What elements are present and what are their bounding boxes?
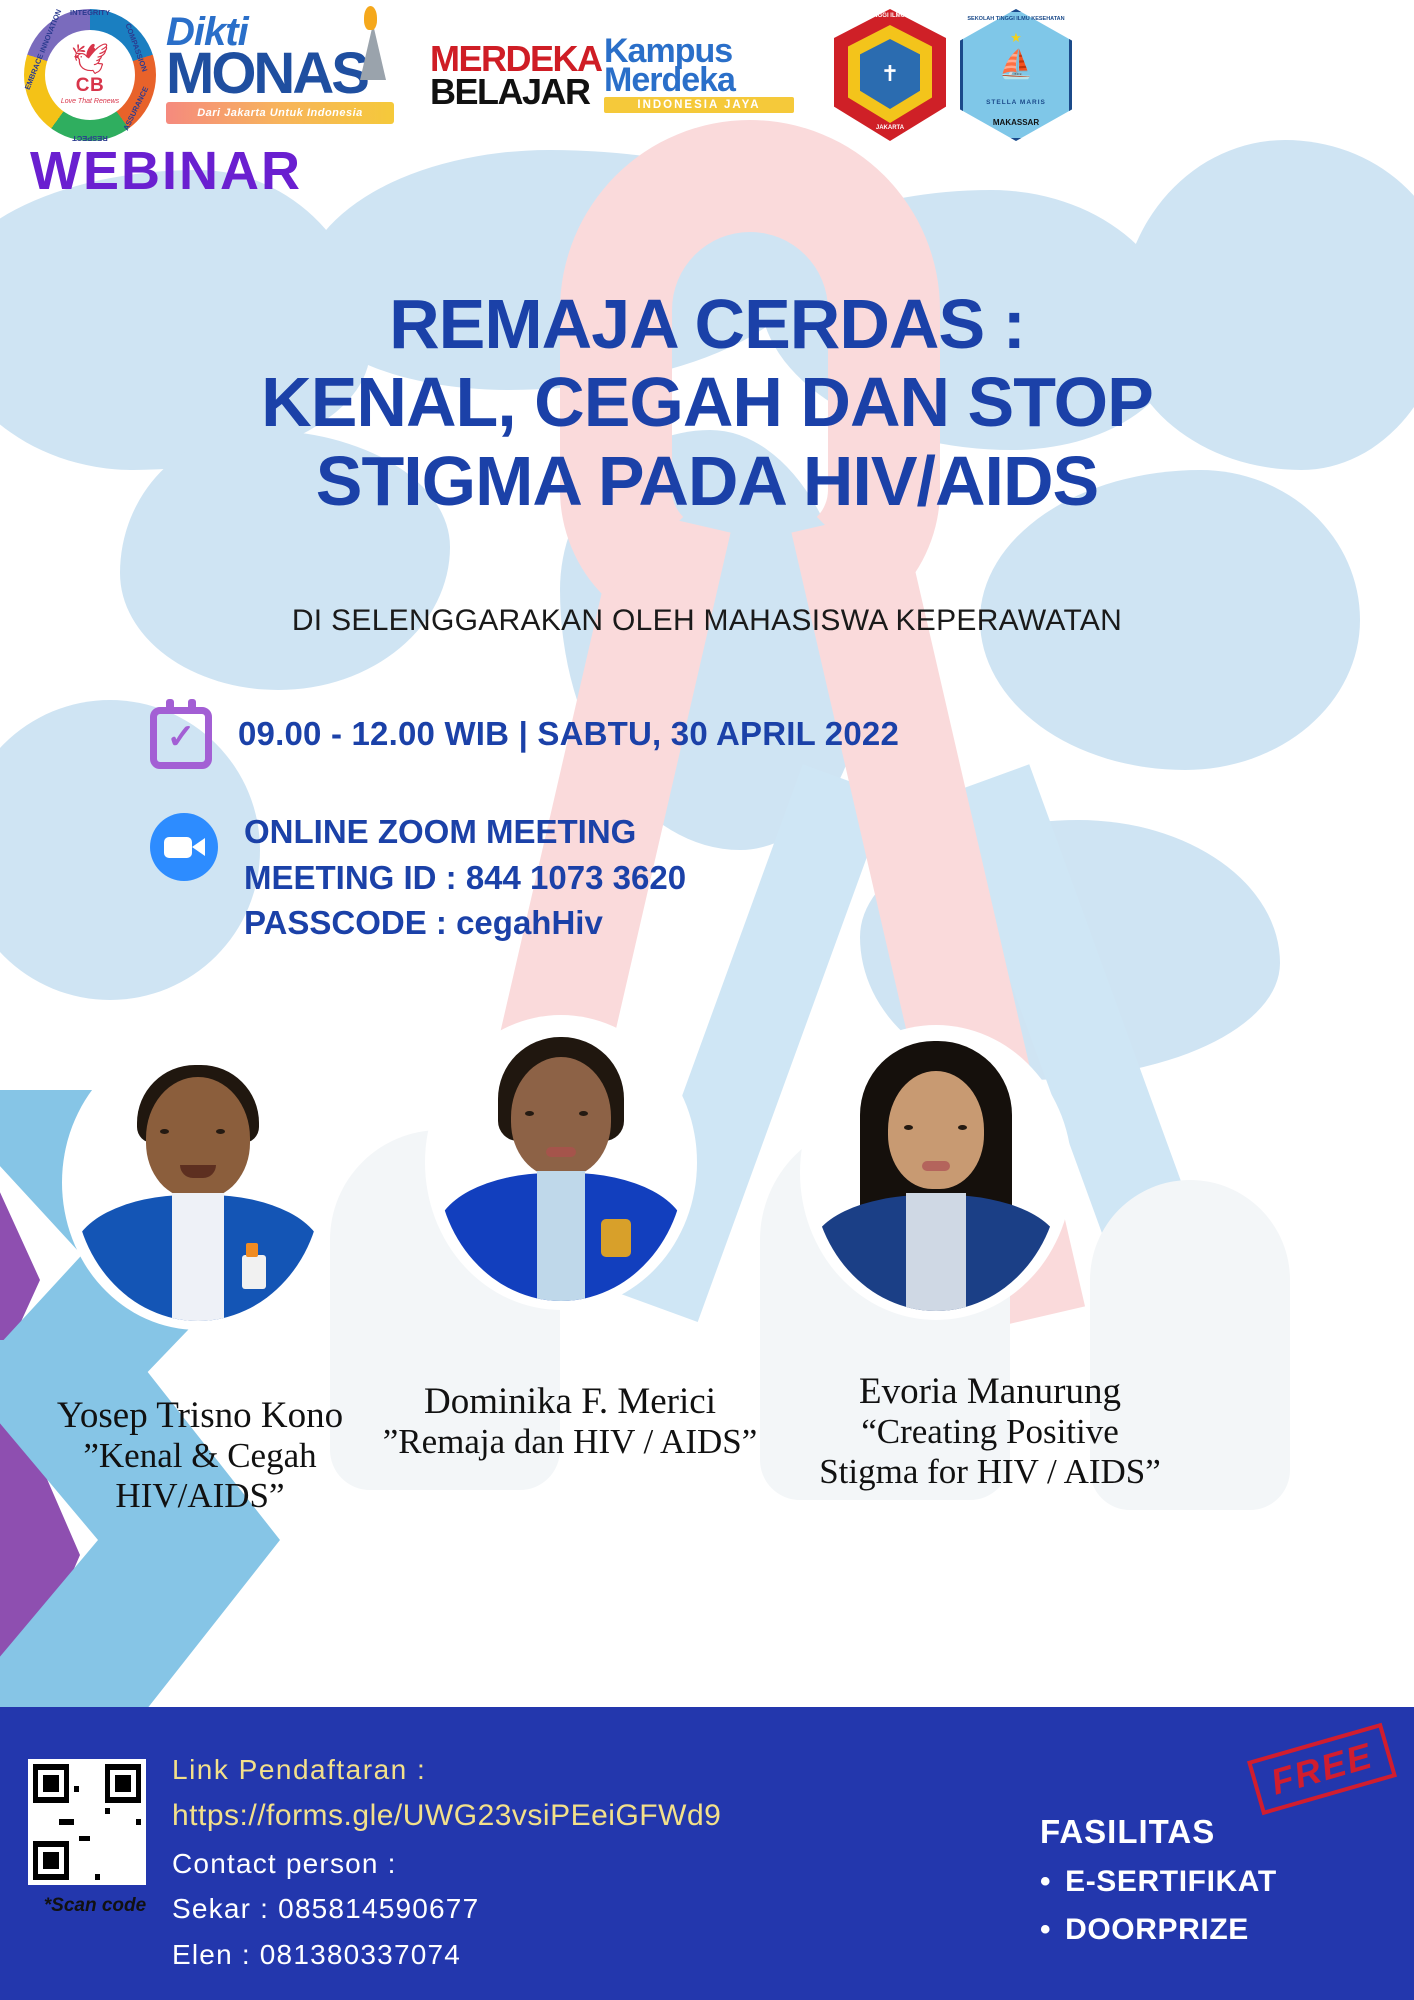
event-time: 09.00 - 12.00 WIB | SABTU, 30 APRIL 2022 — [238, 705, 899, 753]
calendar-check-icon: ✓ — [150, 707, 212, 769]
stik-crest-top-text: SEKOLAH TINGGI ILMU KESEHATAN — [834, 13, 946, 19]
merdeka-line2: BELAJAR — [430, 75, 580, 108]
ship-icon: ⛵ — [999, 48, 1034, 81]
stella-crest-bottom-text: MAKASSAR — [960, 118, 1072, 127]
cb-word-respect: RESPECT — [72, 134, 107, 143]
facility-item: DOORPRIZE — [1040, 1913, 1277, 1947]
dikti-logo-mid: MONAS — [166, 50, 394, 98]
speaker-3-topic-line1: “Creating Positive — [740, 1412, 1240, 1452]
facilities-title: FASILITAS — [1040, 1813, 1277, 1851]
speaker-1: Yosep Trisno Kono ”Kenal & Cegah HIV/AID… — [0, 1395, 400, 1516]
purple-chevron-shape — [0, 1130, 40, 1430]
stik-crest-bottom-text: JAKARTA — [834, 125, 946, 131]
event-details: ✓ 09.00 - 12.00 WIB | SABTU, 30 APRIL 20… — [150, 705, 899, 986]
star-icon: ★ — [1010, 30, 1022, 46]
speaker-3-topic-line2: Stigma for HIV / AIDS” — [740, 1452, 1240, 1492]
avatar — [437, 1023, 685, 1301]
registration-info: Link Pendaftaran : https://forms.gle/UWG… — [172, 1747, 721, 1977]
zoom-meeting-id: MEETING ID : 844 1073 3620 — [244, 855, 686, 901]
speaker-1-name: Yosep Trisno Kono — [0, 1395, 400, 1436]
scan-code-label: *Scan code — [40, 1895, 150, 1917]
stik-sint-carolus-logo: ✝ SEKOLAH TINGGI ILMU KESEHATAN JAKARTA — [834, 9, 946, 141]
cb-word-integrity: INTEGRITY — [70, 8, 110, 17]
registration-link-url[interactable]: https://forms.gle/UWG23vsiPEeiGFWd9 — [172, 1792, 721, 1841]
kampus-merdeka-logo: Kampus Merdeka INDONESIA JAYA — [604, 37, 794, 114]
speaker-2: Dominika F. Merici ”Remaja dan HIV / AID… — [380, 1381, 760, 1462]
title-line-2: KENAL, CEGAH DAN STOP — [0, 363, 1414, 441]
registration-link-label: Link Pendaftaran : — [172, 1747, 721, 1792]
dikti-monas-logo: Dikti MONAS Dari Jakarta Untuk Indonesia — [166, 15, 394, 135]
facility-item: E-SERTIFIKAT — [1040, 1865, 1277, 1899]
page-subtitle: DI SELENGGARAKAN OLEH MAHASISWA KEPERAWA… — [0, 604, 1414, 638]
footer-bar: *Scan code Link Pendaftaran : https://fo… — [0, 1707, 1414, 2000]
title-line-3: STIGMA PADA HIV/AIDS — [0, 442, 1414, 520]
contact-person-label: Contact person : — [172, 1841, 721, 1886]
monas-tower-icon — [360, 24, 386, 80]
free-stamp-badge: FREE — [1247, 1723, 1397, 1815]
contact-person-1: Sekar : 085814590677 — [172, 1886, 721, 1931]
speaker-2-topic: ”Remaja dan HIV / AIDS” — [380, 1422, 760, 1462]
avatar — [74, 1043, 322, 1321]
contact-person-2: Elen : 081380337074 — [172, 1932, 721, 1977]
stella-maris-logo: ★ ⛵ SEKOLAH TINGGI ILMU KESEHATAN STELLA… — [960, 9, 1072, 141]
cb-logo: 🕊 CB Love That Renews INTEGRITY COMPASSI… — [24, 9, 156, 141]
speaker-2-name: Dominika F. Merici — [380, 1381, 760, 1422]
kampus-ribbon: INDONESIA JAYA — [604, 97, 794, 113]
speaker-3: Evoria Manurung “Creating Positive Stigm… — [740, 1371, 1240, 1492]
cb-logo-text: CB — [76, 75, 104, 97]
zoom-passcode: PASSCODE : cegahHiv — [244, 900, 686, 946]
cb-logo-motto: Love That Renews — [61, 98, 119, 105]
kampus-line2: Merdeka — [604, 66, 794, 95]
speaker-1-topic: ”Kenal & Cegah HIV/AIDS” — [0, 1436, 400, 1516]
speaker-3-name: Evoria Manurung — [740, 1371, 1240, 1412]
facilities-list: E-SERTIFIKAT DOORPRIZE — [1040, 1865, 1277, 1947]
event-platform-row: ONLINE ZOOM MEETING MEETING ID : 844 107… — [150, 809, 899, 946]
merdeka-belajar-logo: MERDEKA BELAJAR — [430, 42, 580, 108]
zoom-details: ONLINE ZOOM MEETING MEETING ID : 844 107… — [244, 809, 686, 946]
stella-crest-mid-text: STELLA MARIS — [960, 99, 1072, 106]
title-line-1: REMAJA CERDAS : — [0, 285, 1414, 363]
zoom-platform-label: ONLINE ZOOM MEETING — [244, 809, 686, 855]
stella-crest-top-text: SEKOLAH TINGGI ILMU KESEHATAN — [960, 16, 1072, 22]
page-title: REMAJA CERDAS : KENAL, CEGAH DAN STOP ST… — [0, 285, 1414, 520]
zoom-video-icon — [150, 813, 218, 881]
avatar — [812, 1033, 1060, 1311]
dikti-logo-mid-text: MONAS — [166, 41, 367, 106]
webinar-poster: 🕊 CB Love That Renews INTEGRITY COMPASSI… — [0, 0, 1414, 2000]
monas-flame-icon — [364, 6, 377, 30]
qr-code[interactable] — [28, 1759, 146, 1885]
event-time-row: ✓ 09.00 - 12.00 WIB | SABTU, 30 APRIL 20… — [150, 705, 899, 769]
logo-strip: 🕊 CB Love That Renews INTEGRITY COMPASSI… — [0, 0, 1414, 150]
dove-icon: 🕊 — [71, 45, 109, 75]
facilities-block: FASILITAS E-SERTIFIKAT DOORPRIZE — [1040, 1813, 1277, 1961]
